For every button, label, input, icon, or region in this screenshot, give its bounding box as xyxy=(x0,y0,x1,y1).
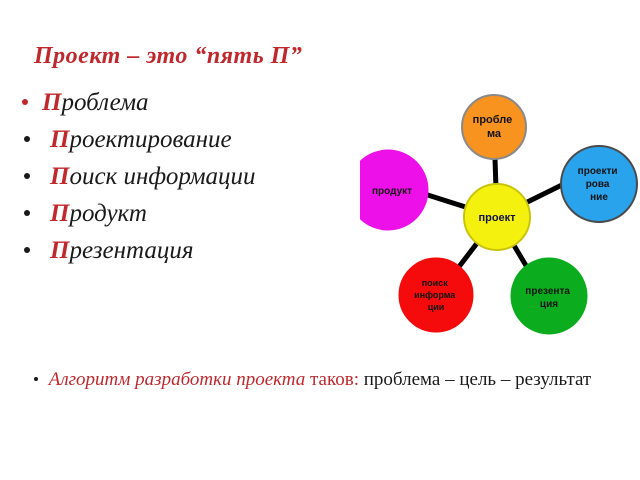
list-item-label: роектирование xyxy=(69,126,231,153)
five-p-list: Проблема Проектирование Поиск информации… xyxy=(14,84,354,269)
list-item-initial: П xyxy=(50,163,69,190)
list-item: Проблема xyxy=(14,84,354,121)
slide-canvas: Проект – это “пять П” Проблема Проектиро… xyxy=(0,0,640,480)
page-title: Проект – это “пять П” xyxy=(34,42,364,70)
list-item-initial: П xyxy=(50,200,69,227)
list-item-label: оиск информации xyxy=(69,163,255,190)
node-label-line: ние xyxy=(590,192,608,203)
project-radial-diagram: пробле ма проекти рова ние продукт xyxy=(360,74,638,336)
list-item: Проектирование xyxy=(14,121,354,158)
caption-red-italic: Алгоритм разработки проекта xyxy=(49,369,306,390)
bullet-marker-icon xyxy=(24,173,30,179)
bullet-marker-icon xyxy=(24,210,30,216)
diagram-node-center-proekt[interactable]: проект xyxy=(464,184,530,250)
bullet-marker-icon xyxy=(34,377,38,381)
bullet-marker-icon xyxy=(24,247,30,253)
list-item-label: роблема xyxy=(61,89,148,116)
caption-red-plain: таков: xyxy=(305,369,359,390)
node-label-line: продукт xyxy=(372,186,412,197)
list-item: Поиск информации xyxy=(14,158,354,195)
list-item-initial: П xyxy=(50,126,69,153)
node-label-line: проекти xyxy=(578,166,618,177)
node-label-line: поиск xyxy=(422,278,448,288)
list-item-initial: П xyxy=(42,89,61,116)
diagram-node-produkt[interactable]: продукт xyxy=(360,150,428,230)
node-label-line: рова xyxy=(586,179,610,190)
bullet-marker-icon xyxy=(22,99,28,105)
algorithm-caption: Алгоритм разработки проекта таков: пробл… xyxy=(18,366,622,393)
node-label-line: ция xyxy=(540,299,558,310)
node-label-line: проект xyxy=(478,212,516,224)
list-item-label: родукт xyxy=(69,200,147,227)
list-item-label: резентация xyxy=(69,237,193,264)
caption-black: проблема – цель – результат xyxy=(359,369,591,390)
node-label-line: ма xyxy=(487,128,502,140)
list-item: Презентация xyxy=(14,232,354,269)
diagram-node-problema[interactable]: пробле ма xyxy=(462,95,526,159)
node-label-line: презента xyxy=(525,286,570,297)
list-item: Продукт xyxy=(14,195,354,232)
svg-text:проект: проект xyxy=(478,212,516,224)
bullet-marker-icon xyxy=(24,136,30,142)
diagram-node-prezentaciya[interactable]: презента ция xyxy=(511,258,587,334)
node-label-line: пробле xyxy=(473,114,513,126)
node-label-line: информа xyxy=(414,290,456,300)
diagram-node-proektirovanie[interactable]: проекти рова ние xyxy=(561,146,637,222)
svg-text:продукт: продукт xyxy=(372,186,412,197)
node-label-line: ции xyxy=(428,302,445,312)
diagram-node-poisk-informacii[interactable]: поиск информа ции xyxy=(399,258,473,332)
list-item-initial: П xyxy=(50,237,69,264)
